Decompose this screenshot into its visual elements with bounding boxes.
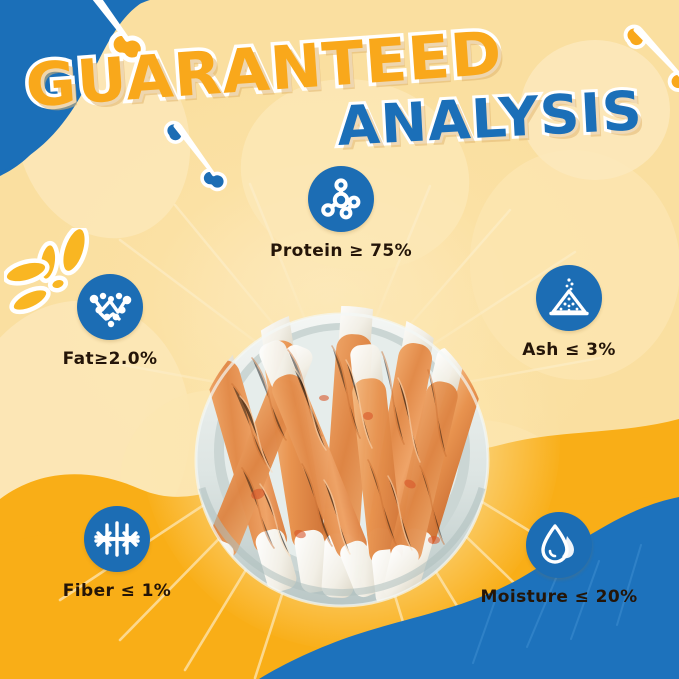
ash-label: Ash ≤ 3% [484,340,654,360]
nutrient-fiber: Fiber ≤ 1% [32,506,202,601]
fiber-weave-icon [93,519,141,559]
product-photo [182,288,502,618]
moisture-label: Moisture ≤ 20% [474,587,644,607]
fiber-badge [84,506,150,572]
ash-pile-icon [547,276,591,320]
nutrient-ash: Ash ≤ 3% [484,265,654,360]
protein-badge [308,166,374,232]
water-droplet-icon [538,523,580,567]
fat-cluster-icon [87,286,133,328]
fiber-label: Fiber ≤ 1% [32,581,202,601]
moisture-badge [526,512,592,578]
nutrient-fat: Fat≥2.0% [25,274,195,369]
nutrient-protein: Protein ≥ 75% [256,166,426,261]
fat-badge [77,274,143,340]
nutrient-moisture: Moisture ≤ 20% [474,512,644,607]
protein-label: Protein ≥ 75% [256,241,426,261]
molecule-icon [319,177,363,221]
fat-label: Fat≥2.0% [25,349,195,369]
guaranteed-analysis-infographic: GUARANTEED ANALYSIS [0,0,679,679]
ash-badge [536,265,602,331]
